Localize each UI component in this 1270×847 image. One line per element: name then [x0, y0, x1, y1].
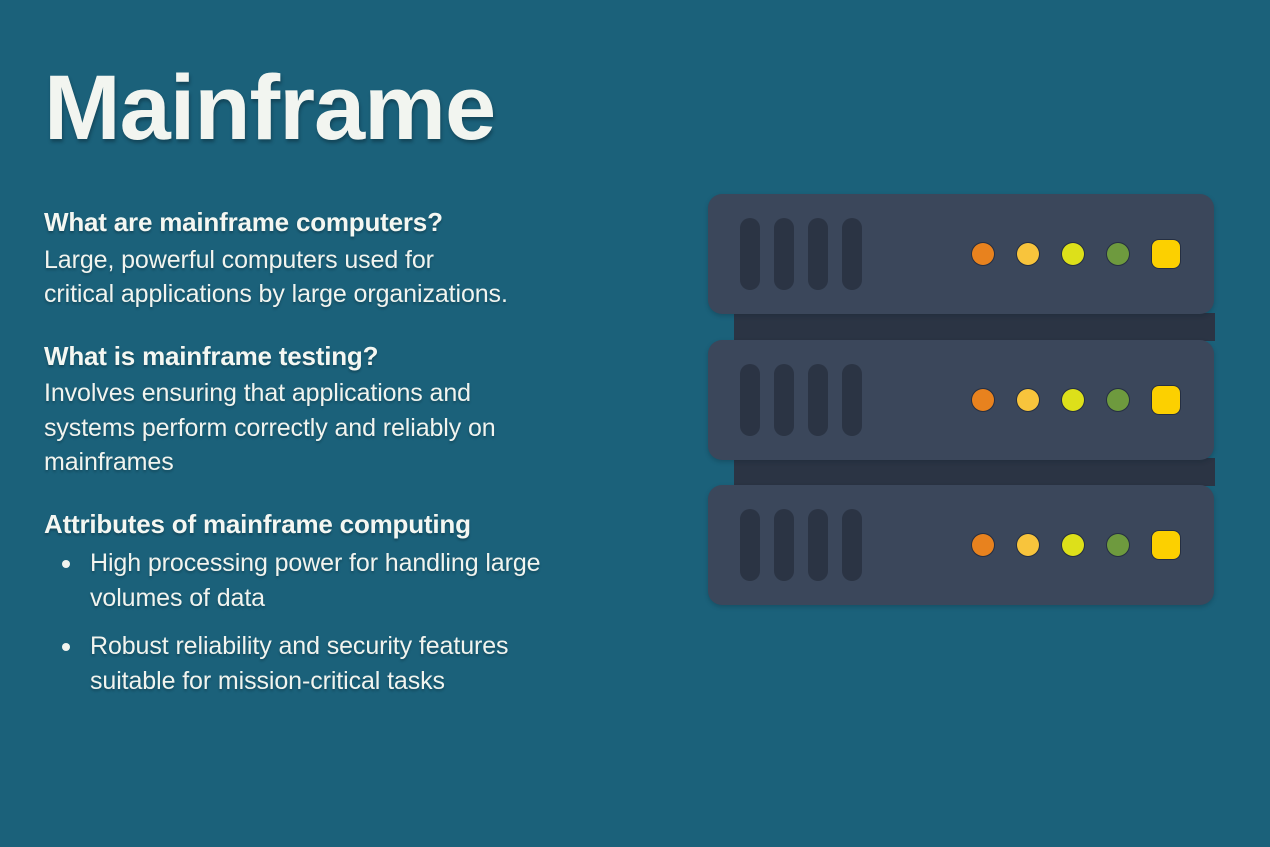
- led-orange-icon: [972, 389, 994, 411]
- body-line: mainframes: [44, 445, 704, 480]
- server-led-group: [972, 485, 1180, 605]
- section-body: Large, powerful computers used for criti…: [44, 243, 704, 312]
- led-olive-green-icon: [1107, 534, 1129, 556]
- server-slot-icon: [774, 218, 794, 290]
- led-amber-icon: [1017, 534, 1039, 556]
- server-slot-icon: [740, 218, 760, 290]
- server-slot-group: [740, 364, 862, 436]
- server-slot-icon: [740, 509, 760, 581]
- list-item: Robust reliability and security features…: [44, 629, 704, 698]
- led-yellow-green-icon: [1062, 389, 1084, 411]
- section-heading: Attributes of mainframe computing: [44, 508, 704, 541]
- led-amber-icon: [1017, 243, 1039, 265]
- led-amber-icon: [1017, 389, 1039, 411]
- led-olive-green-icon: [1107, 243, 1129, 265]
- mainframe-server-rack-illustration: [708, 194, 1214, 604]
- led-yellow-indicator-icon: [1152, 386, 1180, 414]
- server-unit: [708, 194, 1214, 314]
- server-slot-group: [740, 509, 862, 581]
- led-olive-green-icon: [1107, 389, 1129, 411]
- section-what-is-mainframe-testing: What is mainframe testing? Involves ensu…: [44, 340, 704, 480]
- body-line: Large, powerful computers used for: [44, 243, 704, 278]
- section-heading: What are mainframe computers?: [44, 206, 704, 239]
- page-title: Mainframe: [44, 62, 704, 154]
- server-unit: [708, 340, 1214, 460]
- server-slot-icon: [774, 509, 794, 581]
- section-heading: What is mainframe testing?: [44, 340, 704, 373]
- server-led-group: [972, 194, 1180, 314]
- server-slot-icon: [842, 509, 862, 581]
- led-orange-icon: [972, 243, 994, 265]
- server-slot-group: [740, 218, 862, 290]
- bullet-line: volumes of data: [90, 581, 704, 616]
- section-body: Involves ensuring that applications and …: [44, 376, 704, 480]
- bullet-dot-icon: [62, 643, 70, 651]
- section-attributes-of-mainframe-computing: Attributes of mainframe computing High p…: [44, 508, 704, 699]
- body-line: Involves ensuring that applications and: [44, 376, 704, 411]
- server-connector-band: [734, 313, 1215, 341]
- text-content-column: Mainframe What are mainframe computers? …: [44, 62, 704, 726]
- led-yellow-green-icon: [1062, 534, 1084, 556]
- led-orange-icon: [972, 534, 994, 556]
- body-line: critical applications by large organizat…: [44, 277, 704, 312]
- infographic-poster: Mainframe What are mainframe computers? …: [0, 0, 1270, 847]
- server-slot-icon: [740, 364, 760, 436]
- server-slot-icon: [808, 364, 828, 436]
- server-slot-icon: [842, 218, 862, 290]
- body-line: systems perform correctly and reliably o…: [44, 411, 704, 446]
- server-slot-icon: [842, 364, 862, 436]
- led-yellow-indicator-icon: [1152, 531, 1180, 559]
- attributes-bullet-list: High processing power for handling large…: [44, 546, 704, 698]
- led-yellow-indicator-icon: [1152, 240, 1180, 268]
- server-unit: [708, 485, 1214, 605]
- bullet-dot-icon: [62, 560, 70, 568]
- bullet-line: suitable for mission-critical tasks: [90, 664, 704, 699]
- server-connector-band: [734, 458, 1215, 486]
- server-slot-icon: [774, 364, 794, 436]
- list-item: High processing power for handling large…: [44, 546, 704, 615]
- section-what-are-mainframe-computers: What are mainframe computers? Large, pow…: [44, 206, 704, 312]
- bullet-line: Robust reliability and security features: [90, 629, 704, 664]
- server-led-group: [972, 340, 1180, 460]
- server-slot-icon: [808, 509, 828, 581]
- bullet-line: High processing power for handling large: [90, 546, 704, 581]
- server-slot-icon: [808, 218, 828, 290]
- led-yellow-green-icon: [1062, 243, 1084, 265]
